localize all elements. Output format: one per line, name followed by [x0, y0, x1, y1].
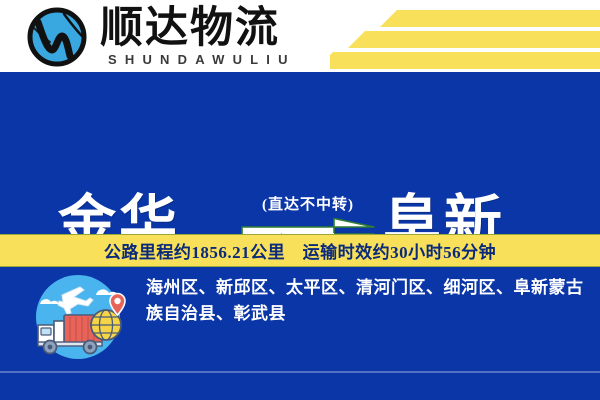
company-name-en: SHUNDAWULIU [108, 52, 296, 67]
header-stripe-3 [330, 52, 600, 69]
bottom-divider [0, 371, 600, 373]
banner-header: 顺达物流 SHUNDAWULIU [0, 0, 600, 72]
route-section: 金华 (直达不中转) 【往返运输】 阜新 [0, 72, 600, 234]
header-stripe-1 [380, 10, 600, 27]
coverage-section: 海州区、新邱区、太平区、清河门区、细河区、阜新蒙古族自治县、彰武县 [0, 267, 600, 400]
logistics-route-banner: 顺达物流 SHUNDAWULIU 金华 (直达不中转) 【往返运输】 阜新 公路… [0, 0, 600, 400]
header-stripes-decoration [330, 0, 600, 72]
company-name-cn: 顺达物流 [100, 4, 280, 54]
header-stripe-2 [348, 31, 600, 48]
coverage-districts-text: 海州区、新邱区、太平区、清河门区、细河区、阜新蒙古族自治县、彰武县 [146, 275, 584, 327]
company-logo-icon [26, 6, 88, 68]
route-note-direct: (直达不中转) [228, 193, 388, 214]
truck-plane-globe-illustration-icon [22, 273, 134, 361]
distance-duration-bar: 公路里程约1856.21公里 运输时效约30小时56分钟 [0, 234, 600, 267]
distance-duration-text: 公路里程约1856.21公里 运输时效约30小时56分钟 [104, 238, 496, 263]
